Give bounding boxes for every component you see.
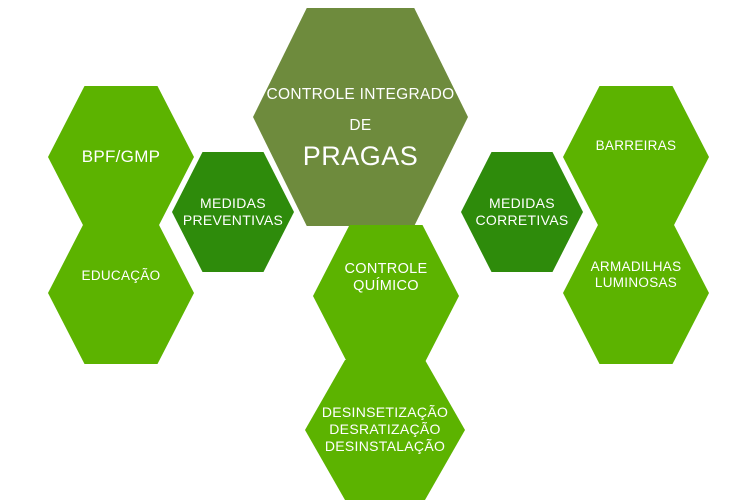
hexagon-medidas-corretivas-label: MEDIDAS CORRETIVAS xyxy=(466,195,578,228)
hexagon-center-controle-integrado-de-pragas[interactable]: CONTROLE INTEGRADO DE PRAGAS xyxy=(253,8,468,226)
hexagon-medidas-preventivas-label: MEDIDAS PREVENTIVAS xyxy=(177,195,289,228)
center-line-2: DE xyxy=(253,117,468,135)
hexagon-desinsetizacao-label: DESINSETIZAÇÃO DESRATIZAÇÃO DESINSTALAÇÃ… xyxy=(311,404,458,455)
hexagon-barreiras[interactable]: BARREIRAS xyxy=(563,86,709,228)
hexagon-educacao[interactable]: EDUCAÇÃO xyxy=(48,222,194,364)
hexagon-medidas-corretivas[interactable]: MEDIDAS CORRETIVAS xyxy=(461,152,583,272)
hexagon-bpf-gmp[interactable]: BPF/GMP xyxy=(48,86,194,228)
center-line-3: PRAGAS xyxy=(253,141,468,173)
center-text-stack: CONTROLE INTEGRADO DE PRAGAS xyxy=(253,86,468,172)
center-line-1: CONTROLE INTEGRADO xyxy=(253,86,468,104)
hexagon-armadilhas-luminosas-label: ARMADILHAS LUMINOSAS xyxy=(569,259,703,291)
hexagon-controle-quimico-label: CONTROLE QUÍMICO xyxy=(319,261,453,295)
hexagon-barreiras-label: BARREIRAS xyxy=(569,138,703,154)
hexagon-armadilhas-luminosas[interactable]: ARMADILHAS LUMINOSAS xyxy=(563,222,709,364)
hexagon-controle-quimico[interactable]: CONTROLE QUÍMICO xyxy=(313,225,459,367)
hexagon-medidas-preventivas[interactable]: MEDIDAS PREVENTIVAS xyxy=(172,152,294,272)
hexagon-desinsetizacao-desratizacao-desinstalacao[interactable]: DESINSETIZAÇÃO DESRATIZAÇÃO DESINSTALAÇÃ… xyxy=(305,360,465,500)
diagram-canvas: CONTROLE INTEGRADO DE PRAGAS MEDIDAS PRE… xyxy=(0,0,750,500)
hexagon-bpf-gmp-label: BPF/GMP xyxy=(54,147,188,167)
hexagon-educacao-label: EDUCAÇÃO xyxy=(54,268,188,284)
